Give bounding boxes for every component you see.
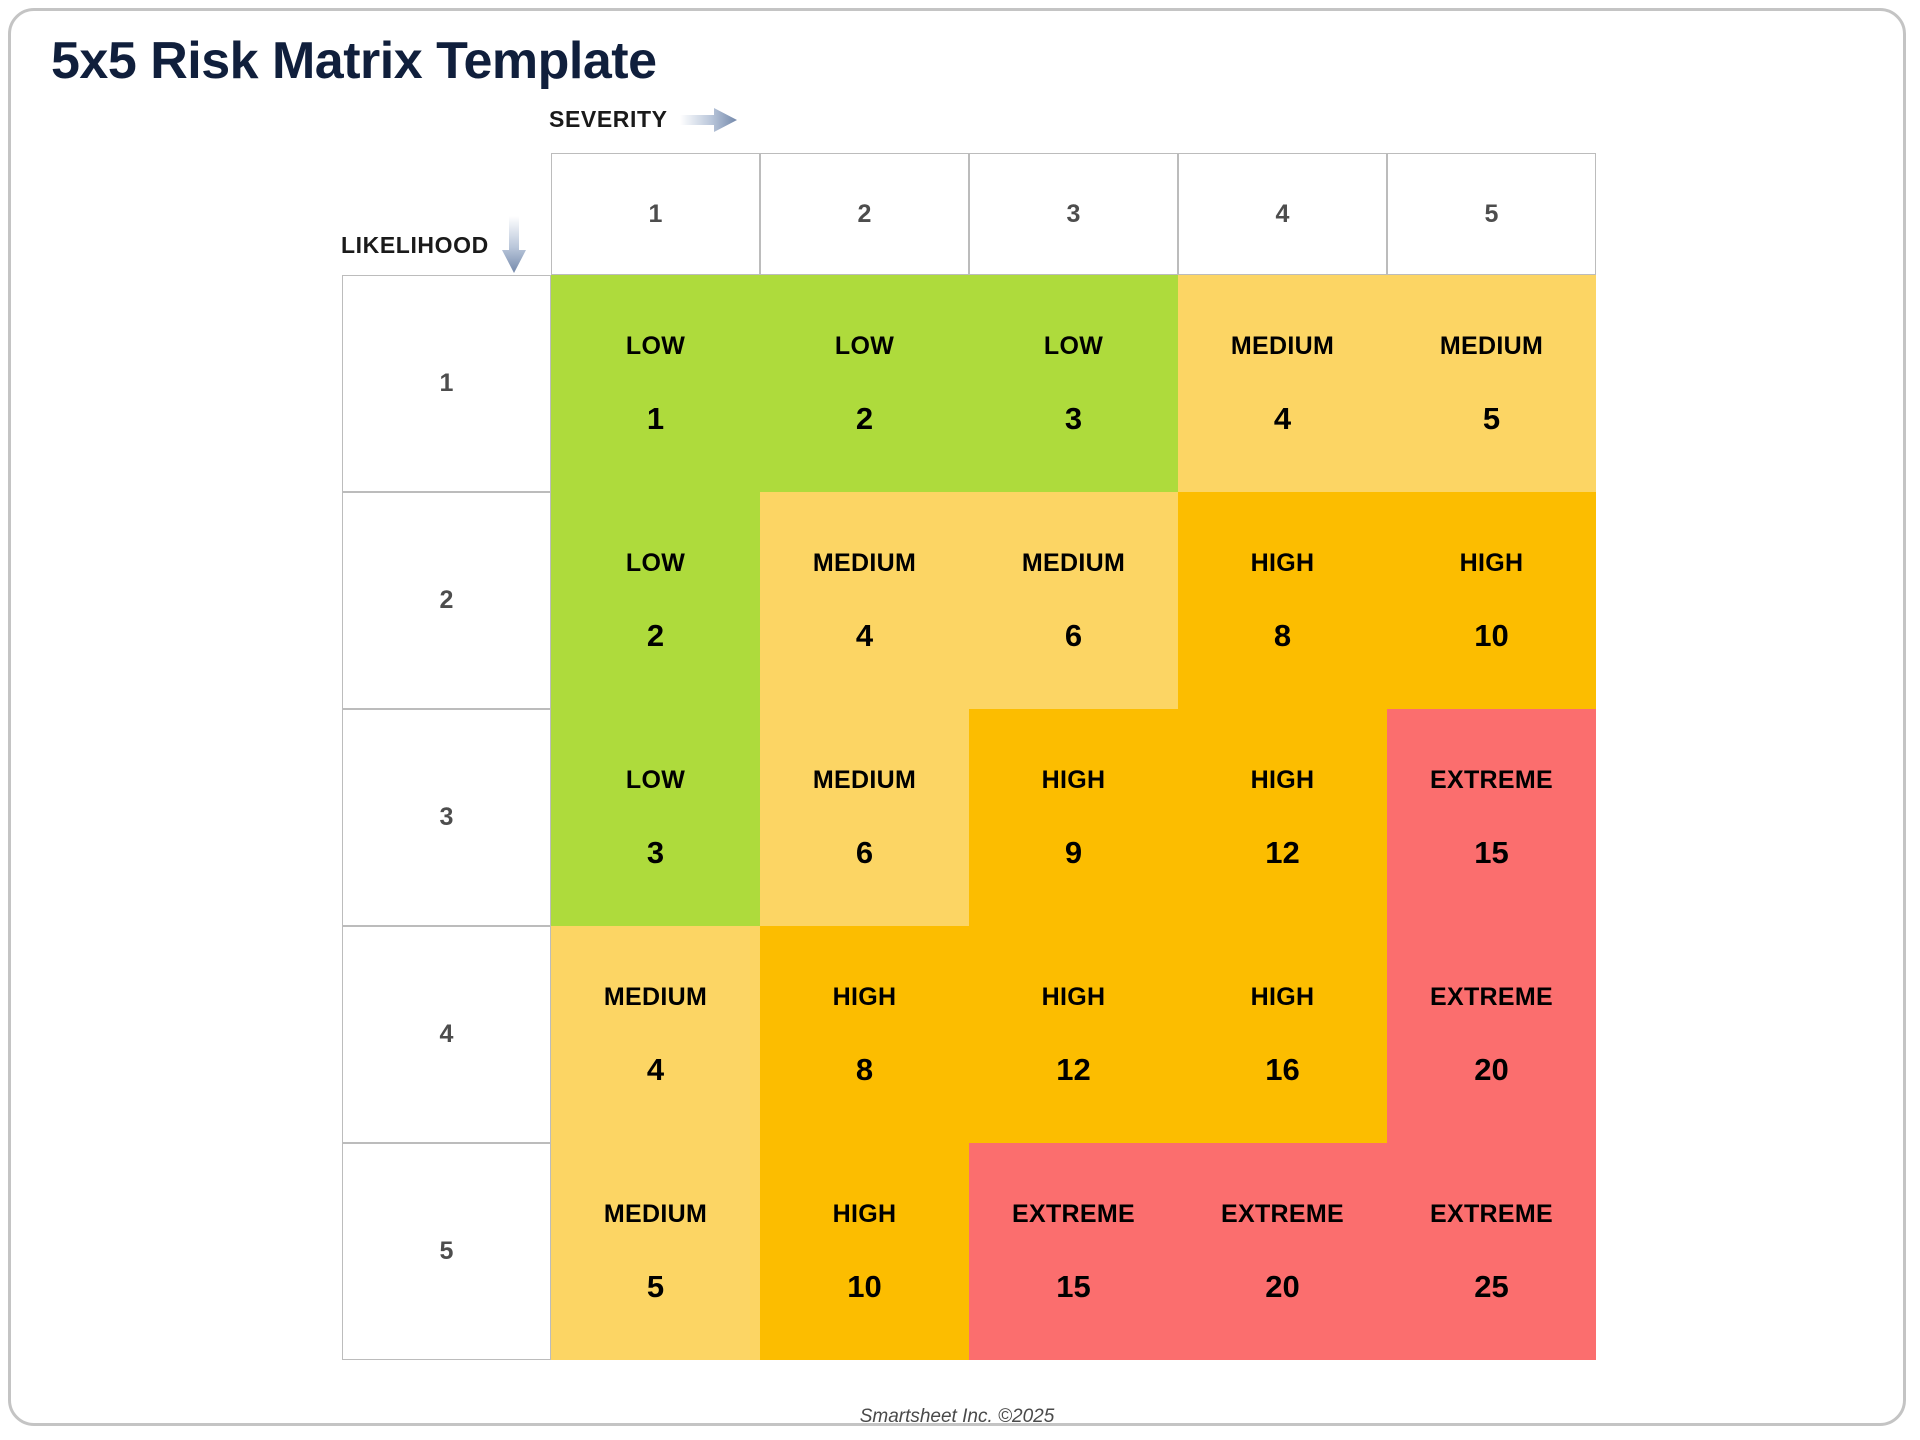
- risk-score-value: 4: [647, 1054, 664, 1085]
- risk-score-value: 10: [847, 1271, 881, 1302]
- risk-level-label: HIGH: [833, 985, 897, 1010]
- risk-cell-l4-s5[interactable]: EXTREME20: [1387, 926, 1596, 1143]
- risk-level-label: MEDIUM: [813, 768, 916, 793]
- risk-score-value: 9: [1065, 837, 1082, 868]
- risk-cell-l3-s3[interactable]: HIGH9: [969, 709, 1178, 926]
- risk-level-label: EXTREME: [1430, 1202, 1553, 1227]
- risk-level-label: MEDIUM: [1231, 334, 1334, 359]
- risk-cell-l2-s2[interactable]: MEDIUM4: [760, 492, 969, 709]
- risk-score-value: 5: [1483, 403, 1500, 434]
- severity-column-header-4: 4: [1178, 153, 1387, 275]
- risk-cell-l3-s4[interactable]: HIGH12: [1178, 709, 1387, 926]
- risk-level-label: EXTREME: [1221, 1202, 1344, 1227]
- risk-cell-l2-s3[interactable]: MEDIUM6: [969, 492, 1178, 709]
- likelihood-row-header-3: 3: [342, 709, 551, 926]
- risk-level-label: HIGH: [1251, 985, 1315, 1010]
- risk-score-value: 3: [1065, 403, 1082, 434]
- risk-score-value: 6: [1065, 620, 1082, 651]
- risk-level-label: LOW: [626, 334, 685, 359]
- risk-score-value: 5: [647, 1271, 664, 1302]
- risk-score-value: 12: [1265, 837, 1299, 868]
- risk-level-label: EXTREME: [1430, 985, 1553, 1010]
- risk-level-label: LOW: [626, 768, 685, 793]
- risk-cell-l5-s2[interactable]: HIGH10: [760, 1143, 969, 1360]
- risk-score-value: 2: [856, 403, 873, 434]
- risk-score-value: 16: [1265, 1054, 1299, 1085]
- page-title: 5x5 Risk Matrix Template: [51, 31, 657, 91]
- risk-cell-l2-s1[interactable]: LOW2: [551, 492, 760, 709]
- severity-column-header-5: 5: [1387, 153, 1596, 275]
- document-card: 5x5 Risk Matrix Template SEVERITY LIKELI…: [8, 8, 1906, 1426]
- risk-cell-l3-s1[interactable]: LOW3: [551, 709, 760, 926]
- risk-cell-l5-s3[interactable]: EXTREME15: [969, 1143, 1178, 1360]
- risk-level-label: HIGH: [1460, 551, 1524, 576]
- risk-cell-l1-s4[interactable]: MEDIUM4: [1178, 275, 1387, 492]
- risk-level-label: HIGH: [1042, 768, 1106, 793]
- risk-level-label: EXTREME: [1430, 768, 1553, 793]
- risk-cell-l1-s1[interactable]: LOW1: [551, 275, 760, 492]
- risk-level-label: LOW: [626, 551, 685, 576]
- risk-score-value: 15: [1056, 1271, 1090, 1302]
- risk-level-label: MEDIUM: [604, 1202, 707, 1227]
- likelihood-row-header-1: 1: [342, 275, 551, 492]
- risk-score-value: 4: [1274, 403, 1291, 434]
- risk-cell-l4-s2[interactable]: HIGH8: [760, 926, 969, 1143]
- risk-score-value: 2: [647, 620, 664, 651]
- risk-cell-l2-s4[interactable]: HIGH8: [1178, 492, 1387, 709]
- risk-score-value: 10: [1474, 620, 1508, 651]
- severity-axis-caption: SEVERITY: [549, 106, 738, 133]
- risk-score-value: 15: [1474, 837, 1508, 868]
- risk-score-value: 25: [1474, 1271, 1508, 1302]
- risk-cell-l1-s2[interactable]: LOW2: [760, 275, 969, 492]
- severity-column-header-3: 3: [969, 153, 1178, 275]
- risk-cell-l1-s5[interactable]: MEDIUM5: [1387, 275, 1596, 492]
- risk-level-label: MEDIUM: [813, 551, 916, 576]
- risk-score-value: 6: [856, 837, 873, 868]
- risk-score-value: 8: [1274, 620, 1291, 651]
- risk-cell-l3-s5[interactable]: EXTREME15: [1387, 709, 1596, 926]
- matrix-corner-blank: [342, 153, 551, 275]
- risk-level-label: MEDIUM: [1022, 551, 1125, 576]
- risk-score-value: 1: [647, 403, 664, 434]
- risk-score-value: 8: [856, 1054, 873, 1085]
- risk-matrix-grid: 123451LOW1LOW2LOW3MEDIUM4MEDIUM52LOW2MED…: [342, 153, 1596, 1360]
- risk-score-value: 12: [1056, 1054, 1090, 1085]
- severity-axis-label: SEVERITY: [549, 106, 668, 133]
- risk-level-label: EXTREME: [1012, 1202, 1135, 1227]
- risk-cell-l5-s4[interactable]: EXTREME20: [1178, 1143, 1387, 1360]
- risk-cell-l3-s2[interactable]: MEDIUM6: [760, 709, 969, 926]
- risk-level-label: HIGH: [1251, 768, 1315, 793]
- risk-cell-l5-s1[interactable]: MEDIUM5: [551, 1143, 760, 1360]
- risk-cell-l5-s5[interactable]: EXTREME25: [1387, 1143, 1596, 1360]
- arrow-right-icon: [680, 107, 738, 133]
- risk-level-label: HIGH: [1251, 551, 1315, 576]
- risk-cell-l1-s3[interactable]: LOW3: [969, 275, 1178, 492]
- risk-level-label: LOW: [835, 334, 894, 359]
- risk-level-label: HIGH: [1042, 985, 1106, 1010]
- severity-column-header-1: 1: [551, 153, 760, 275]
- risk-level-label: LOW: [1044, 334, 1103, 359]
- risk-score-value: 3: [647, 837, 664, 868]
- risk-score-value: 20: [1265, 1271, 1299, 1302]
- risk-level-label: MEDIUM: [604, 985, 707, 1010]
- footer-credit: Smartsheet Inc. ©2025: [11, 1406, 1903, 1428]
- likelihood-row-header-4: 4: [342, 926, 551, 1143]
- risk-cell-l2-s5[interactable]: HIGH10: [1387, 492, 1596, 709]
- likelihood-row-header-2: 2: [342, 492, 551, 709]
- risk-cell-l4-s3[interactable]: HIGH12: [969, 926, 1178, 1143]
- risk-score-value: 20: [1474, 1054, 1508, 1085]
- likelihood-row-header-5: 5: [342, 1143, 551, 1360]
- risk-level-label: MEDIUM: [1440, 334, 1543, 359]
- risk-score-value: 4: [856, 620, 873, 651]
- risk-level-label: HIGH: [833, 1202, 897, 1227]
- severity-column-header-2: 2: [760, 153, 969, 275]
- risk-cell-l4-s4[interactable]: HIGH16: [1178, 926, 1387, 1143]
- risk-cell-l4-s1[interactable]: MEDIUM4: [551, 926, 760, 1143]
